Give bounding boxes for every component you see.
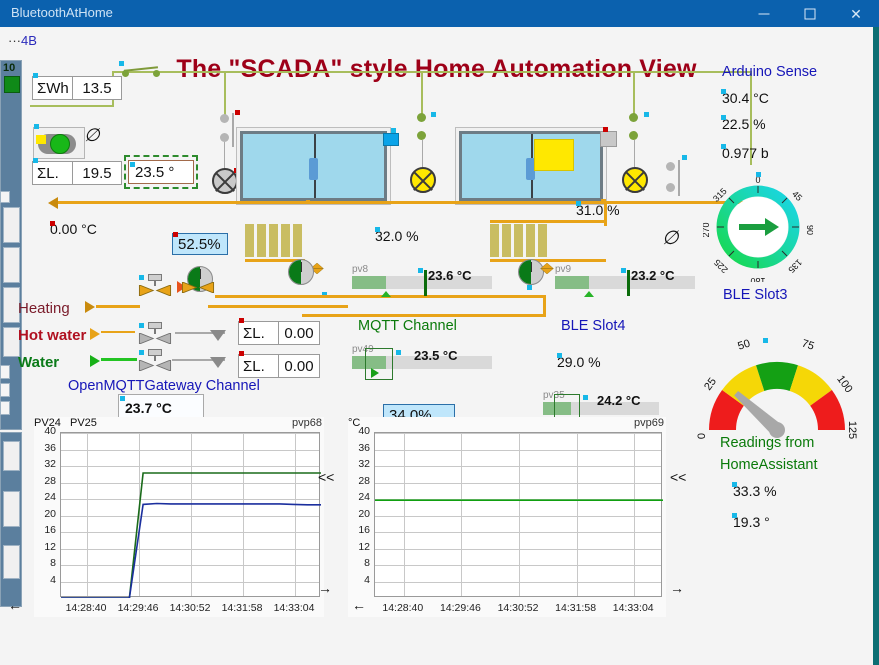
chart1-nav-left[interactable]: ←	[8, 597, 22, 613]
x-tick-label: 14:33:04	[605, 602, 661, 614]
valve-heating-2[interactable]	[181, 282, 215, 304]
switch-node	[220, 114, 229, 123]
tag-dot	[418, 268, 423, 273]
tag-dot	[375, 227, 380, 232]
switch-node	[629, 113, 638, 122]
left-tool-rail: 10	[0, 60, 22, 430]
svg-text:90: 90	[805, 225, 813, 235]
chart1-legend-1: PV25	[70, 417, 97, 429]
window-blind[interactable]	[534, 139, 574, 171]
heating-supply-line	[58, 201, 748, 204]
ble-slot4-percent: 29.0 %	[557, 354, 601, 370]
setpoint-value: 23.5 °	[135, 164, 174, 181]
tag-dot	[732, 482, 737, 487]
liters-meter-water-key: ΣL.	[239, 355, 279, 377]
tag-dot	[239, 351, 244, 356]
label-mqtt-channel: MQTT Channel	[358, 318, 457, 334]
minimize-button[interactable]	[741, 0, 787, 27]
window-sensor-1[interactable]	[383, 133, 399, 146]
liters-meter-water-value: 0.00	[279, 358, 319, 375]
window-glass	[459, 131, 603, 201]
phase-symbol: ∅	[84, 125, 100, 146]
drain-symbol	[210, 330, 226, 341]
heating-branch-line	[208, 305, 348, 308]
tag-dot	[33, 73, 38, 78]
energy-meter[interactable]: ΣWh 13.5	[32, 76, 122, 100]
tag-dot	[732, 513, 737, 518]
rail-tick[interactable]	[0, 191, 10, 203]
rail-status-indicator[interactable]	[4, 76, 20, 93]
liters-meter-main-key: ΣL.	[33, 162, 73, 184]
maximize-button[interactable]	[787, 0, 833, 27]
rail-button[interactable]	[3, 247, 20, 283]
x-tick-label: 14:28:40	[375, 602, 431, 614]
chart2-corner-label: pvp69	[634, 417, 664, 429]
svg-text:100: 100	[834, 373, 854, 395]
tag-dot	[173, 232, 178, 237]
tag-dot	[119, 61, 124, 66]
electric-feed-line	[30, 105, 114, 107]
chart1-nav-back[interactable]: <<	[318, 469, 334, 485]
liters-meter-hotwater-key: ΣL.	[239, 322, 279, 344]
tag-dot	[756, 172, 761, 177]
label-hot-water: Hot water	[18, 327, 86, 344]
svg-text:125: 125	[846, 421, 857, 439]
tag-dot	[603, 127, 608, 132]
y-tick-label: 4	[34, 574, 56, 586]
home-assistant-temperature: 19.3 °	[733, 514, 770, 530]
switch-node	[666, 183, 675, 192]
pv-widget-value: 23.6 °C	[428, 268, 472, 283]
setpoint-field[interactable]: 23.5 °	[128, 160, 194, 184]
pv-widget-label: pv9	[555, 264, 571, 275]
window-handle	[309, 158, 318, 180]
tag-dot	[139, 323, 144, 328]
tag-dot	[139, 275, 144, 280]
breadcrumb-dots: ···	[8, 33, 21, 48]
rail-tick[interactable]	[0, 365, 10, 379]
switch-contact	[122, 70, 129, 77]
y-tick-label: 24	[348, 491, 370, 503]
electric-bus-line	[112, 71, 752, 73]
arduino-pressure: 0.977 b	[722, 145, 769, 161]
water-line	[101, 358, 137, 361]
pv-widget-value: 24.2 °C	[597, 393, 641, 408]
switch-blade-line	[678, 160, 680, 196]
tag-dot	[306, 200, 310, 204]
trend-chart-pvp68[interactable]: PV24 PV25 pvp68 403632282420161284 14:28…	[34, 417, 324, 617]
svg-text:75: 75	[800, 338, 815, 353]
chart2-nav-right[interactable]: →	[670, 580, 684, 596]
label-water: Water	[18, 354, 59, 371]
switch-blade-line	[232, 113, 234, 147]
lamp-icon-on[interactable]	[622, 167, 648, 193]
humidity-left-value: 32.0 %	[375, 228, 419, 244]
rail-button[interactable]	[3, 491, 20, 527]
switch-node	[417, 131, 426, 140]
hot-water-line	[101, 331, 135, 333]
phase-symbol: ∅	[662, 227, 679, 250]
y-tick-label: 24	[34, 491, 56, 503]
lamp-lead	[634, 140, 635, 167]
arduino-temperature: 30.4 °C	[722, 90, 769, 106]
arduino-humidity: 22.5 %	[722, 116, 766, 132]
heating-return-line	[215, 295, 545, 298]
tag-dot	[576, 201, 581, 206]
tag-dot	[583, 395, 588, 400]
switch-node	[417, 113, 426, 122]
breadcrumb[interactable]: ···4B	[8, 33, 37, 48]
switch-node	[629, 131, 638, 140]
breadcrumb-label: 4B	[21, 33, 37, 48]
trend-chart-pvp69[interactable]: °C pvp69 403632282420161284 14:28:4014:2…	[348, 417, 666, 617]
svg-text:135: 135	[786, 257, 804, 275]
x-tick-label: 14:31:58	[548, 602, 604, 614]
window-glass	[240, 131, 387, 201]
tag-dot	[721, 144, 726, 149]
outside-temp-value: 0.00 °C	[50, 221, 97, 237]
label-ble-slot4: BLE Slot4	[561, 318, 626, 334]
window-title: BluetoothAtHome	[11, 5, 113, 20]
switch-contact	[153, 70, 160, 77]
rail-channel-number: 10	[3, 62, 15, 74]
y-tick-label: 20	[34, 508, 56, 520]
y-tick-label: 12	[34, 541, 56, 553]
svg-text:225: 225	[712, 257, 730, 275]
pump-widget[interactable]	[33, 127, 85, 159]
y-tick-label: 16	[348, 524, 370, 536]
x-tick-label: 14:31:58	[214, 602, 270, 614]
y-tick-label: 8	[34, 557, 56, 569]
tag-dot	[621, 268, 626, 273]
tag-dot	[130, 162, 135, 167]
title-bar: BluetoothAtHome ✕	[0, 0, 879, 27]
x-tick-label: 14:30:52	[490, 602, 546, 614]
lamp-lead	[224, 142, 225, 169]
electric-drop-line	[421, 71, 423, 117]
x-tick-label: 14:29:46	[432, 602, 488, 614]
actuator-pie-mid[interactable]	[288, 259, 314, 285]
label-ble-slot3: BLE Slot3	[723, 287, 788, 303]
hot-water-arrow	[90, 328, 100, 340]
liters-meter-water[interactable]: ΣL. 0.00	[238, 354, 320, 378]
dial-gauge[interactable]: 0 25 50 75 100 125	[697, 330, 857, 445]
chart1-nav-right[interactable]: →	[318, 580, 332, 596]
window-graphic-2[interactable]	[455, 127, 607, 205]
liters-meter-hotwater-value: 0.00	[279, 325, 319, 342]
y-tick-label: 28	[348, 475, 370, 487]
liters-meter-main[interactable]: ΣL. 19.5	[32, 161, 122, 185]
electric-drop-line	[633, 71, 635, 117]
tag-dot	[396, 350, 401, 355]
chart2-nav-back[interactable]: <<	[670, 469, 686, 485]
valve-percent-box[interactable]: 52.5%	[172, 233, 228, 255]
label-home-assistant-2: HomeAssistant	[720, 457, 818, 473]
liters-meter-main-value: 19.5	[73, 165, 121, 182]
liters-meter-hotwater[interactable]: ΣL. 0.00	[238, 321, 320, 345]
switch-node	[220, 133, 229, 142]
radiator-right[interactable]	[245, 224, 305, 257]
y-tick-label: 36	[348, 442, 370, 454]
chart-series-PV24	[61, 473, 321, 598]
energy-meter-key: ΣWh	[33, 77, 73, 99]
tag-dot	[391, 128, 396, 133]
heating-branch-arrow	[85, 301, 95, 313]
radiator-footer	[490, 259, 606, 262]
label-heating: Heating	[18, 300, 70, 317]
pv-widget-value: 23.2 °C	[631, 268, 675, 283]
humidity-right-value: 31.0 %	[576, 202, 620, 218]
y-tick-label: 40	[34, 425, 56, 437]
heating-branch-line	[96, 305, 140, 308]
svg-text:180: 180	[750, 276, 765, 282]
svg-text:50: 50	[736, 338, 751, 353]
application-window: BluetoothAtHome ✕ ···4B The "SCADA" styl…	[0, 0, 879, 665]
x-tick-label: 14:30:52	[162, 602, 218, 614]
electric-drop-line	[224, 71, 226, 117]
tag-dot	[721, 115, 726, 120]
y-tick-label: 4	[348, 574, 370, 586]
tag-dot	[33, 158, 38, 163]
lamp-icon-on[interactable]	[410, 167, 436, 193]
pv-widget-value: 23.5 °C	[414, 348, 458, 363]
heating-return-line-2	[302, 314, 546, 317]
chart-series-PV25	[61, 504, 321, 599]
tag-dot	[763, 338, 768, 343]
rail-button[interactable]	[3, 545, 20, 579]
scada-canvas: ···4B The "SCADA" style Home Automation …	[0, 27, 873, 665]
label-arduino-sense: Arduino Sense	[722, 64, 817, 80]
chart-series-layer	[61, 433, 321, 598]
y-tick-label: 32	[34, 458, 56, 470]
y-tick-label: 8	[348, 557, 370, 569]
tag-dot	[50, 221, 55, 226]
heating-flow-arrow	[48, 197, 58, 209]
y-tick-label: 20	[348, 508, 370, 520]
tag-dot	[34, 124, 39, 129]
energy-meter-value: 13.5	[73, 80, 121, 97]
y-tick-label: 40	[348, 425, 370, 437]
pv-widget-label: pv8	[352, 264, 368, 275]
compass-gauge[interactable]: 0 45 90 135 180 225 270 315	[703, 172, 813, 282]
radiator-header	[490, 220, 606, 223]
tag-dot	[527, 285, 532, 290]
window-sensor-2[interactable]	[600, 131, 617, 147]
svg-text:0: 0	[697, 433, 708, 439]
chart-series-layer	[375, 433, 663, 598]
y-tick-label: 28	[34, 475, 56, 487]
tag-dot	[644, 112, 649, 117]
drain-symbol	[210, 357, 226, 368]
x-tick-label: 14:29:46	[110, 602, 166, 614]
tag-dot	[721, 89, 726, 94]
tag-dot	[239, 318, 244, 323]
svg-text:25: 25	[702, 376, 719, 393]
rail-tick[interactable]	[0, 383, 10, 397]
y-tick-label: 16	[34, 524, 56, 536]
radiator-left[interactable]	[490, 224, 550, 257]
x-tick-label: 14:28:40	[58, 602, 114, 614]
x-tick-label: 14:33:04	[266, 602, 322, 614]
close-icon: ✕	[850, 7, 862, 21]
openmqtt-temperature: 23.7 °C	[125, 399, 197, 417]
tag-dot	[139, 350, 144, 355]
rail-button[interactable]	[3, 207, 20, 243]
close-button[interactable]: ✕	[833, 0, 879, 27]
label-openmqtt-channel: OpenMQTTGateway Channel	[68, 378, 260, 394]
y-tick-label: 32	[348, 458, 370, 470]
left-tool-rail-lower	[0, 432, 22, 607]
lamp-lead	[422, 140, 423, 167]
rail-button[interactable]	[3, 441, 20, 471]
tag-dot	[235, 110, 240, 115]
window-graphic-1[interactable]	[236, 127, 391, 205]
pump-run-indicator	[50, 134, 70, 154]
svg-text:270: 270	[703, 222, 711, 237]
tag-dot	[120, 396, 125, 401]
y-tick-label: 36	[34, 442, 56, 454]
home-assistant-humidity: 33.3 %	[733, 483, 777, 499]
tag-dot	[431, 112, 436, 117]
label-home-assistant-1: Readings from	[720, 435, 814, 451]
y-tick-label: 12	[348, 541, 370, 553]
valve-percent-value: 52.5%	[178, 236, 221, 253]
tag-dot	[682, 155, 687, 160]
switch-node	[666, 162, 675, 171]
tag-dot	[557, 353, 562, 358]
svg-text:45: 45	[790, 189, 804, 203]
rail-tick[interactable]	[0, 401, 10, 415]
right-border-accent	[873, 27, 879, 665]
chart2-nav-left[interactable]: ←	[352, 597, 366, 613]
water-arrow	[90, 355, 100, 367]
chart1-corner-label: pvp68	[292, 417, 322, 429]
